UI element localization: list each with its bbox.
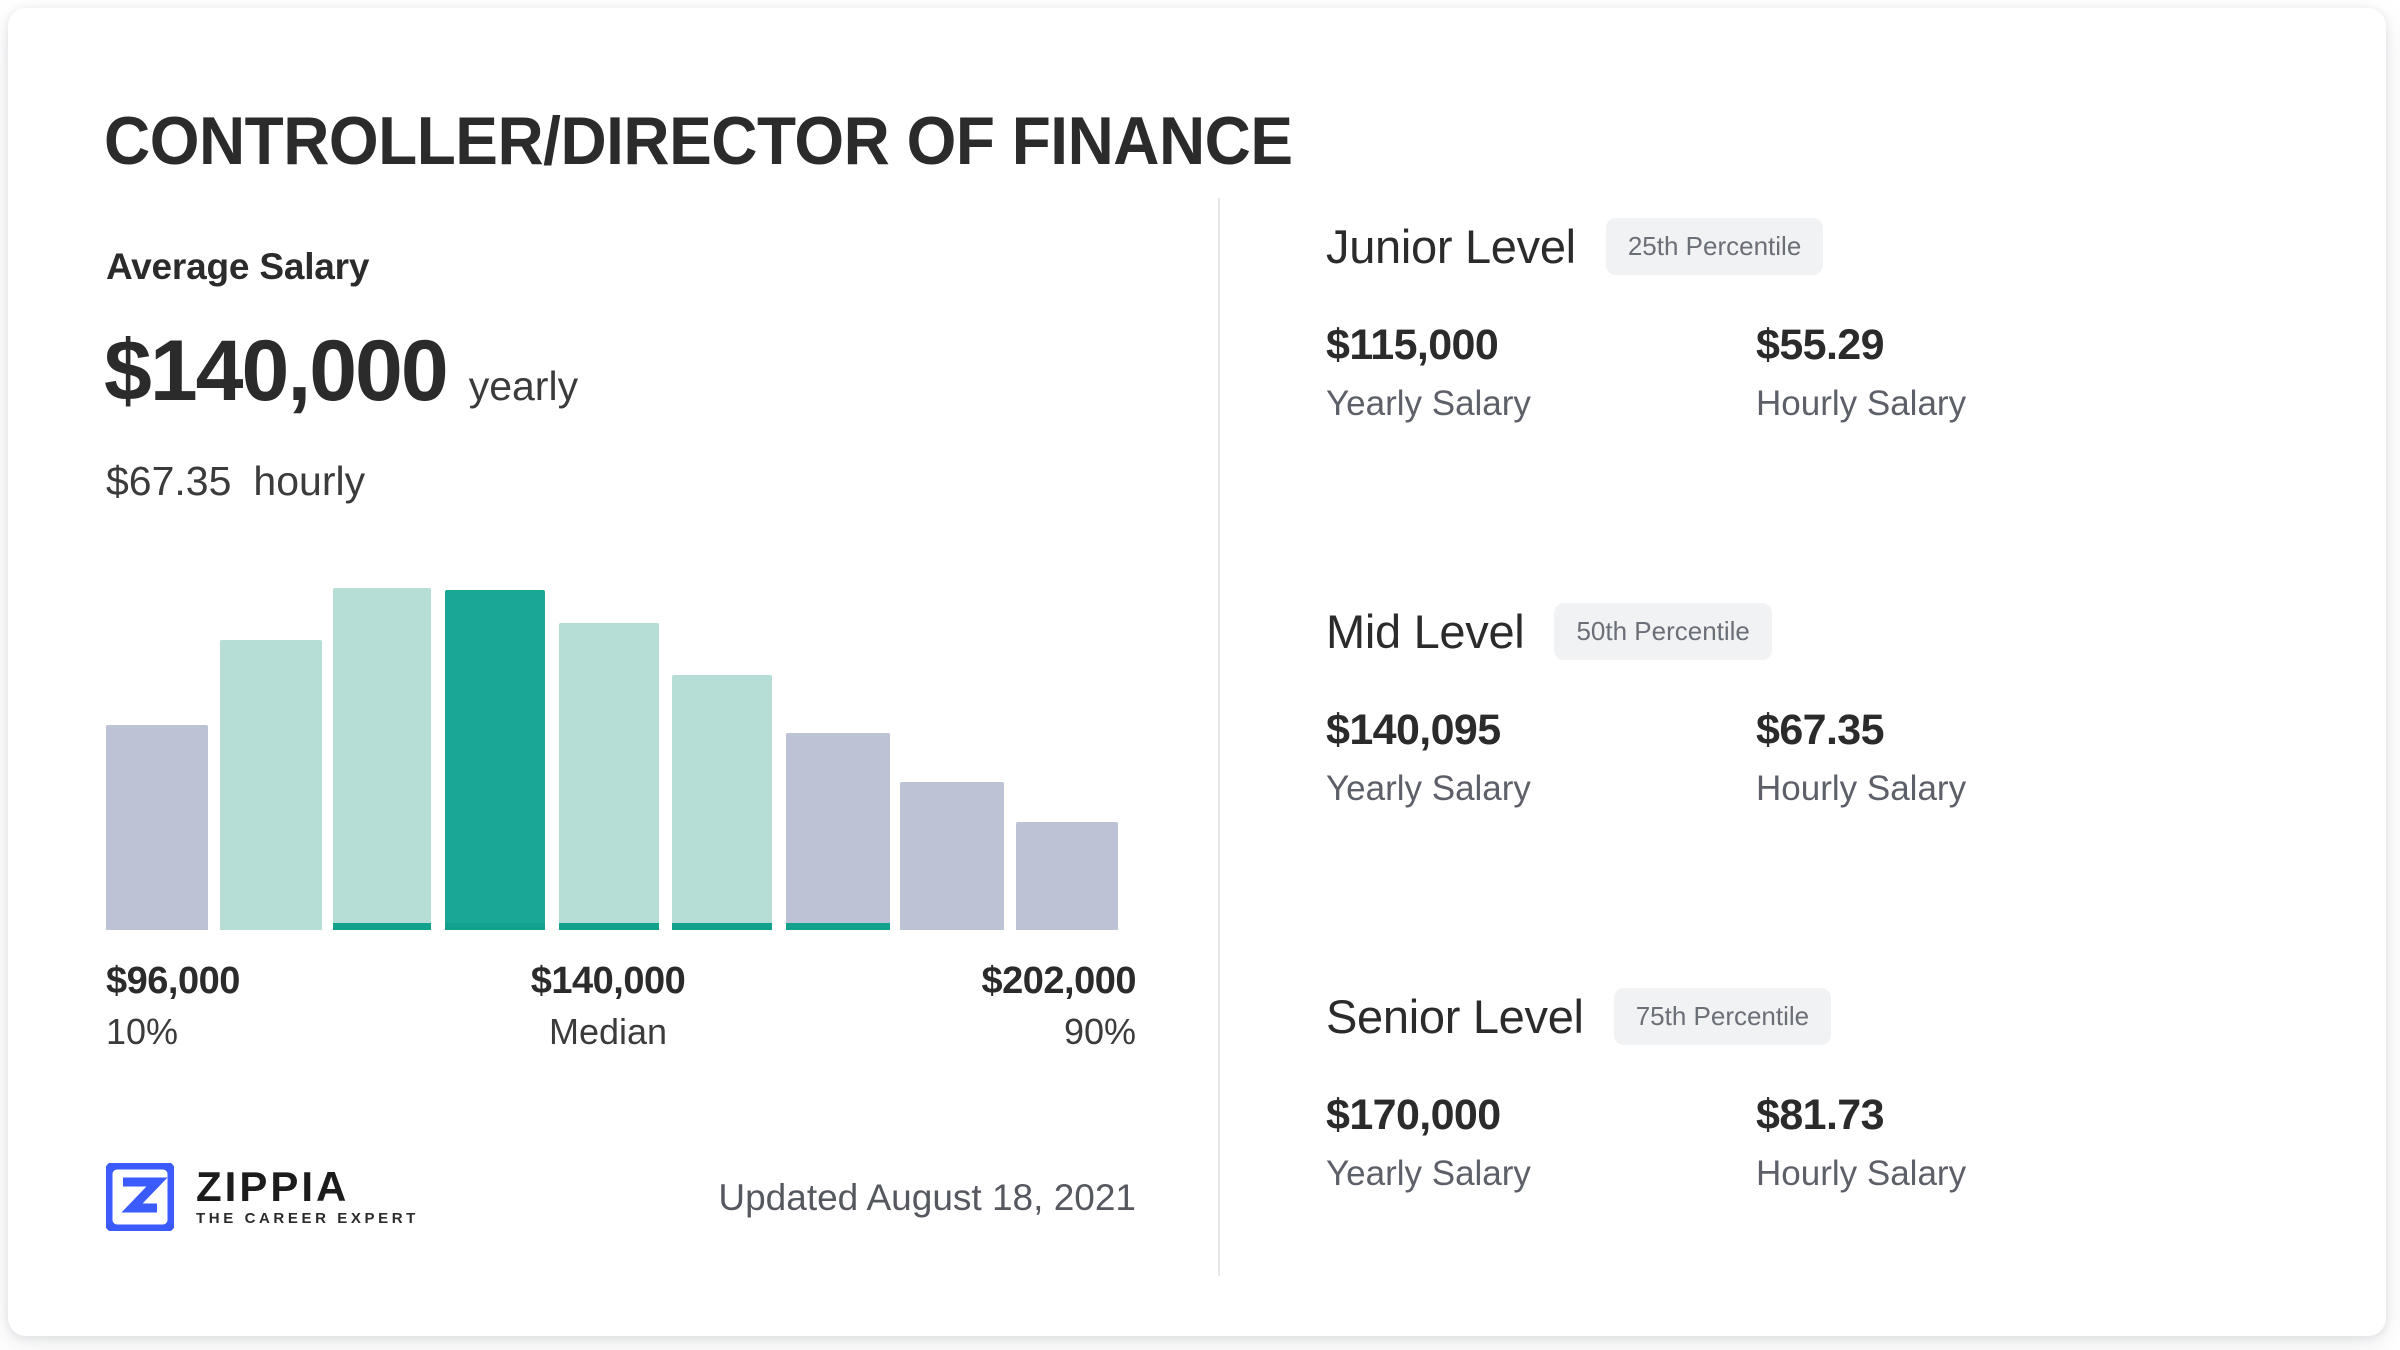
- level-stats-senior: $170,000 Yearly Salary $81.73 Hourly Sal…: [1326, 1089, 2326, 1201]
- stat-hourly-value-senior: $81.73: [1756, 1089, 2186, 1141]
- chart-label-low: $96,000 10%: [106, 958, 386, 1060]
- stat-yearly-senior: $170,000 Yearly Salary: [1326, 1089, 1756, 1201]
- chart-label-median-sub: Median: [468, 1004, 748, 1060]
- stat-hourly-senior: $81.73 Hourly Salary: [1756, 1089, 2186, 1201]
- average-yearly-amount: $140,000: [104, 326, 447, 416]
- chart-bar: [445, 590, 545, 930]
- average-salary-label: Average Salary: [106, 246, 369, 288]
- chart-bar-underline: [559, 923, 659, 930]
- chart-bar: [1016, 822, 1118, 930]
- chart-label-low-amount: $96,000: [106, 958, 386, 1004]
- chart-bar-underline: [786, 923, 890, 930]
- stat-yearly-label-mid: Yearly Salary: [1326, 762, 1756, 816]
- stat-hourly-label-mid: Hourly Salary: [1756, 762, 2186, 816]
- stat-yearly-label-senior: Yearly Salary: [1326, 1147, 1756, 1201]
- stat-hourly-value-junior: $55.29: [1756, 319, 2186, 371]
- right-panel: Junior Level 25th Percentile $115,000 Ye…: [1226, 8, 2386, 1336]
- chart-bar-underline: [445, 923, 545, 930]
- stat-yearly-value-junior: $115,000: [1326, 319, 1756, 371]
- zippia-logo[interactable]: ZIPPIA THE CAREER EXPERT: [106, 1163, 419, 1231]
- stat-hourly-value-mid: $67.35: [1756, 704, 2186, 756]
- stat-hourly-label-junior: Hourly Salary: [1756, 377, 2186, 431]
- chart-bar: [106, 725, 208, 930]
- zippia-logo-icon: [106, 1163, 174, 1231]
- average-yearly-unit: yearly: [469, 363, 578, 410]
- level-header-junior: Junior Level 25th Percentile: [1326, 218, 2326, 275]
- salary-distribution-chart: [106, 568, 1126, 930]
- zippia-wordmark: ZIPPIA: [196, 1165, 419, 1209]
- chart-bar-underline: [672, 923, 772, 930]
- zippia-tagline: THE CAREER EXPERT: [196, 1209, 419, 1229]
- stat-hourly-junior: $55.29 Hourly Salary: [1756, 319, 2186, 431]
- chart-bar: [333, 588, 431, 930]
- level-header-senior: Senior Level 75th Percentile: [1326, 988, 2326, 1045]
- stat-yearly-junior: $115,000 Yearly Salary: [1326, 319, 1756, 431]
- chart-bar: [220, 640, 322, 930]
- level-stats-junior: $115,000 Yearly Salary $55.29 Hourly Sal…: [1326, 319, 2326, 431]
- chart-bar: [559, 623, 659, 930]
- chart-bar: [900, 782, 1004, 930]
- screenshot-root: CONTROLLER/DIRECTOR OF FINANCE Average S…: [0, 0, 2400, 1350]
- salary-card: CONTROLLER/DIRECTOR OF FINANCE Average S…: [8, 8, 2386, 1336]
- left-panel: Average Salary $140,000 yearly $67.35 ho…: [8, 8, 1226, 1336]
- chart-axis-labels: $96,000 10% $140,000 Median $202,000 90%: [106, 958, 1136, 1078]
- chart-bar-underline: [333, 923, 431, 930]
- chart-label-high-amount: $202,000: [856, 958, 1136, 1004]
- average-yearly-row: $140,000 yearly: [104, 326, 578, 416]
- level-title-junior: Junior Level: [1326, 219, 1576, 274]
- level-section-mid: Mid Level 50th Percentile $140,095 Yearl…: [1326, 603, 2326, 816]
- level-badge-mid: 50th Percentile: [1554, 603, 1771, 660]
- level-section-senior: Senior Level 75th Percentile $170,000 Ye…: [1326, 988, 2326, 1201]
- chart-label-high-sub: 90%: [856, 1004, 1136, 1060]
- chart-bar: [672, 675, 772, 930]
- chart-label-high: $202,000 90%: [856, 958, 1136, 1060]
- chart-label-median: $140,000 Median: [468, 958, 748, 1060]
- updated-date: Updated August 18, 2021: [718, 1177, 1136, 1219]
- level-stats-mid: $140,095 Yearly Salary $67.35 Hourly Sal…: [1326, 704, 2326, 816]
- average-hourly-unit: hourly: [253, 458, 365, 505]
- stat-yearly-label-junior: Yearly Salary: [1326, 377, 1756, 431]
- level-header-mid: Mid Level 50th Percentile: [1326, 603, 2326, 660]
- stat-hourly-mid: $67.35 Hourly Salary: [1756, 704, 2186, 816]
- card-footer: ZIPPIA THE CAREER EXPERT Updated August …: [106, 1163, 1136, 1263]
- level-title-mid: Mid Level: [1326, 604, 1524, 659]
- average-hourly-row: $67.35 hourly: [106, 458, 365, 505]
- zippia-logo-text: ZIPPIA THE CAREER EXPERT: [196, 1165, 419, 1229]
- level-title-senior: Senior Level: [1326, 989, 1584, 1044]
- level-section-junior: Junior Level 25th Percentile $115,000 Ye…: [1326, 218, 2326, 431]
- chart-label-low-sub: 10%: [106, 1004, 386, 1060]
- level-badge-junior: 25th Percentile: [1606, 218, 1823, 275]
- stat-yearly-mid: $140,095 Yearly Salary: [1326, 704, 1756, 816]
- stat-yearly-value-mid: $140,095: [1326, 704, 1756, 756]
- chart-bar: [786, 733, 890, 930]
- stat-yearly-value-senior: $170,000: [1326, 1089, 1756, 1141]
- chart-label-median-amount: $140,000: [468, 958, 748, 1004]
- stat-hourly-label-senior: Hourly Salary: [1756, 1147, 2186, 1201]
- average-hourly-amount: $67.35: [106, 458, 231, 505]
- column-divider: [1218, 198, 1220, 1276]
- level-badge-senior: 75th Percentile: [1614, 988, 1831, 1045]
